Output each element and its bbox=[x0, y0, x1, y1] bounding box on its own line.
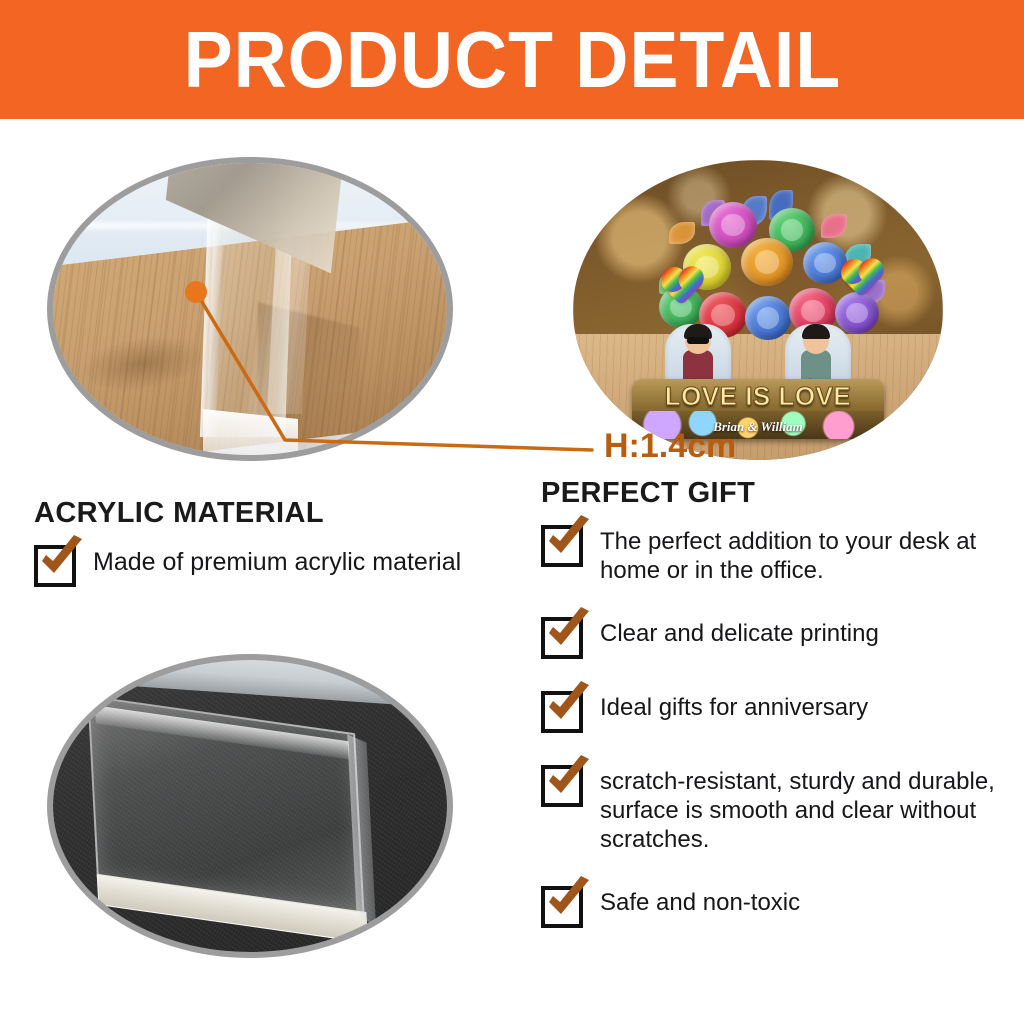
page-title: PRODUCT DETAIL bbox=[183, 20, 841, 100]
feature-item: scratch-resistant, sturdy and durable, s… bbox=[541, 763, 1011, 854]
thickness-photo-inner bbox=[53, 163, 447, 455]
rose-purple bbox=[835, 292, 879, 334]
feature-text: Safe and non-toxic bbox=[600, 884, 800, 917]
checkbox-checked-icon bbox=[34, 545, 76, 587]
product-photo: LOVE IS LOVE Brian & William bbox=[573, 160, 943, 460]
callout-label: H:1.4cm bbox=[604, 429, 736, 463]
product-detail-infographic: PRODUCT DETAIL bbox=[0, 0, 1024, 1024]
leaf-orange bbox=[669, 222, 695, 244]
feature-item: Safe and non-toxic bbox=[541, 884, 1011, 928]
perfect-gift-section: PERFECT GIFT The perfect addition to you… bbox=[541, 477, 1011, 958]
checkbox-checked-icon bbox=[541, 617, 583, 659]
rose-blue-right bbox=[803, 242, 847, 284]
feature-text: Ideal gifts for anniversary bbox=[600, 689, 868, 722]
check-mark-icon bbox=[540, 751, 598, 809]
check-mark-icon bbox=[33, 531, 91, 589]
block-photo-inner bbox=[53, 660, 447, 952]
perfect-gift-heading: PERFECT GIFT bbox=[541, 477, 1011, 509]
header-banner: PRODUCT DETAIL bbox=[0, 0, 1024, 119]
acrylic-material-heading: ACRYLIC MATERIAL bbox=[34, 497, 534, 529]
block-photo bbox=[47, 654, 453, 958]
checkbox-checked-icon bbox=[541, 691, 583, 733]
feature-text: Made of premium acrylic material bbox=[93, 543, 461, 577]
feature-text: The perfect addition to your desk at hom… bbox=[600, 523, 1011, 585]
check-mark-icon bbox=[540, 677, 598, 735]
feature-text: Clear and delicate printing bbox=[600, 615, 879, 648]
acrylic-material-section: ACRYLIC MATERIAL Made of premium acrylic… bbox=[34, 497, 534, 587]
check-mark-icon bbox=[540, 603, 598, 661]
feature-text: scratch-resistant, sturdy and durable, s… bbox=[600, 763, 1011, 854]
checkbox-checked-icon bbox=[541, 765, 583, 807]
rose-magenta bbox=[709, 202, 757, 248]
checkbox-checked-icon bbox=[541, 886, 583, 928]
leaf-pink bbox=[821, 214, 847, 238]
check-mark-icon bbox=[540, 511, 598, 569]
rose-orange bbox=[741, 238, 793, 286]
acrylic-block bbox=[88, 696, 365, 917]
feature-item: Clear and delicate printing bbox=[541, 615, 1011, 659]
person-right-hair bbox=[802, 324, 830, 339]
feature-item: The perfect addition to your desk at hom… bbox=[541, 523, 1011, 585]
checkbox-checked-icon bbox=[541, 525, 583, 567]
feature-item: Ideal gifts for anniversary bbox=[541, 689, 1011, 733]
thickness-photo bbox=[47, 157, 453, 461]
check-mark-icon bbox=[540, 872, 598, 930]
product-title: LOVE IS LOVE bbox=[632, 383, 884, 409]
person-left-sunglasses-icon bbox=[687, 337, 709, 344]
feature-item: Made of premium acrylic material bbox=[34, 543, 534, 587]
rose-blue bbox=[745, 296, 791, 340]
